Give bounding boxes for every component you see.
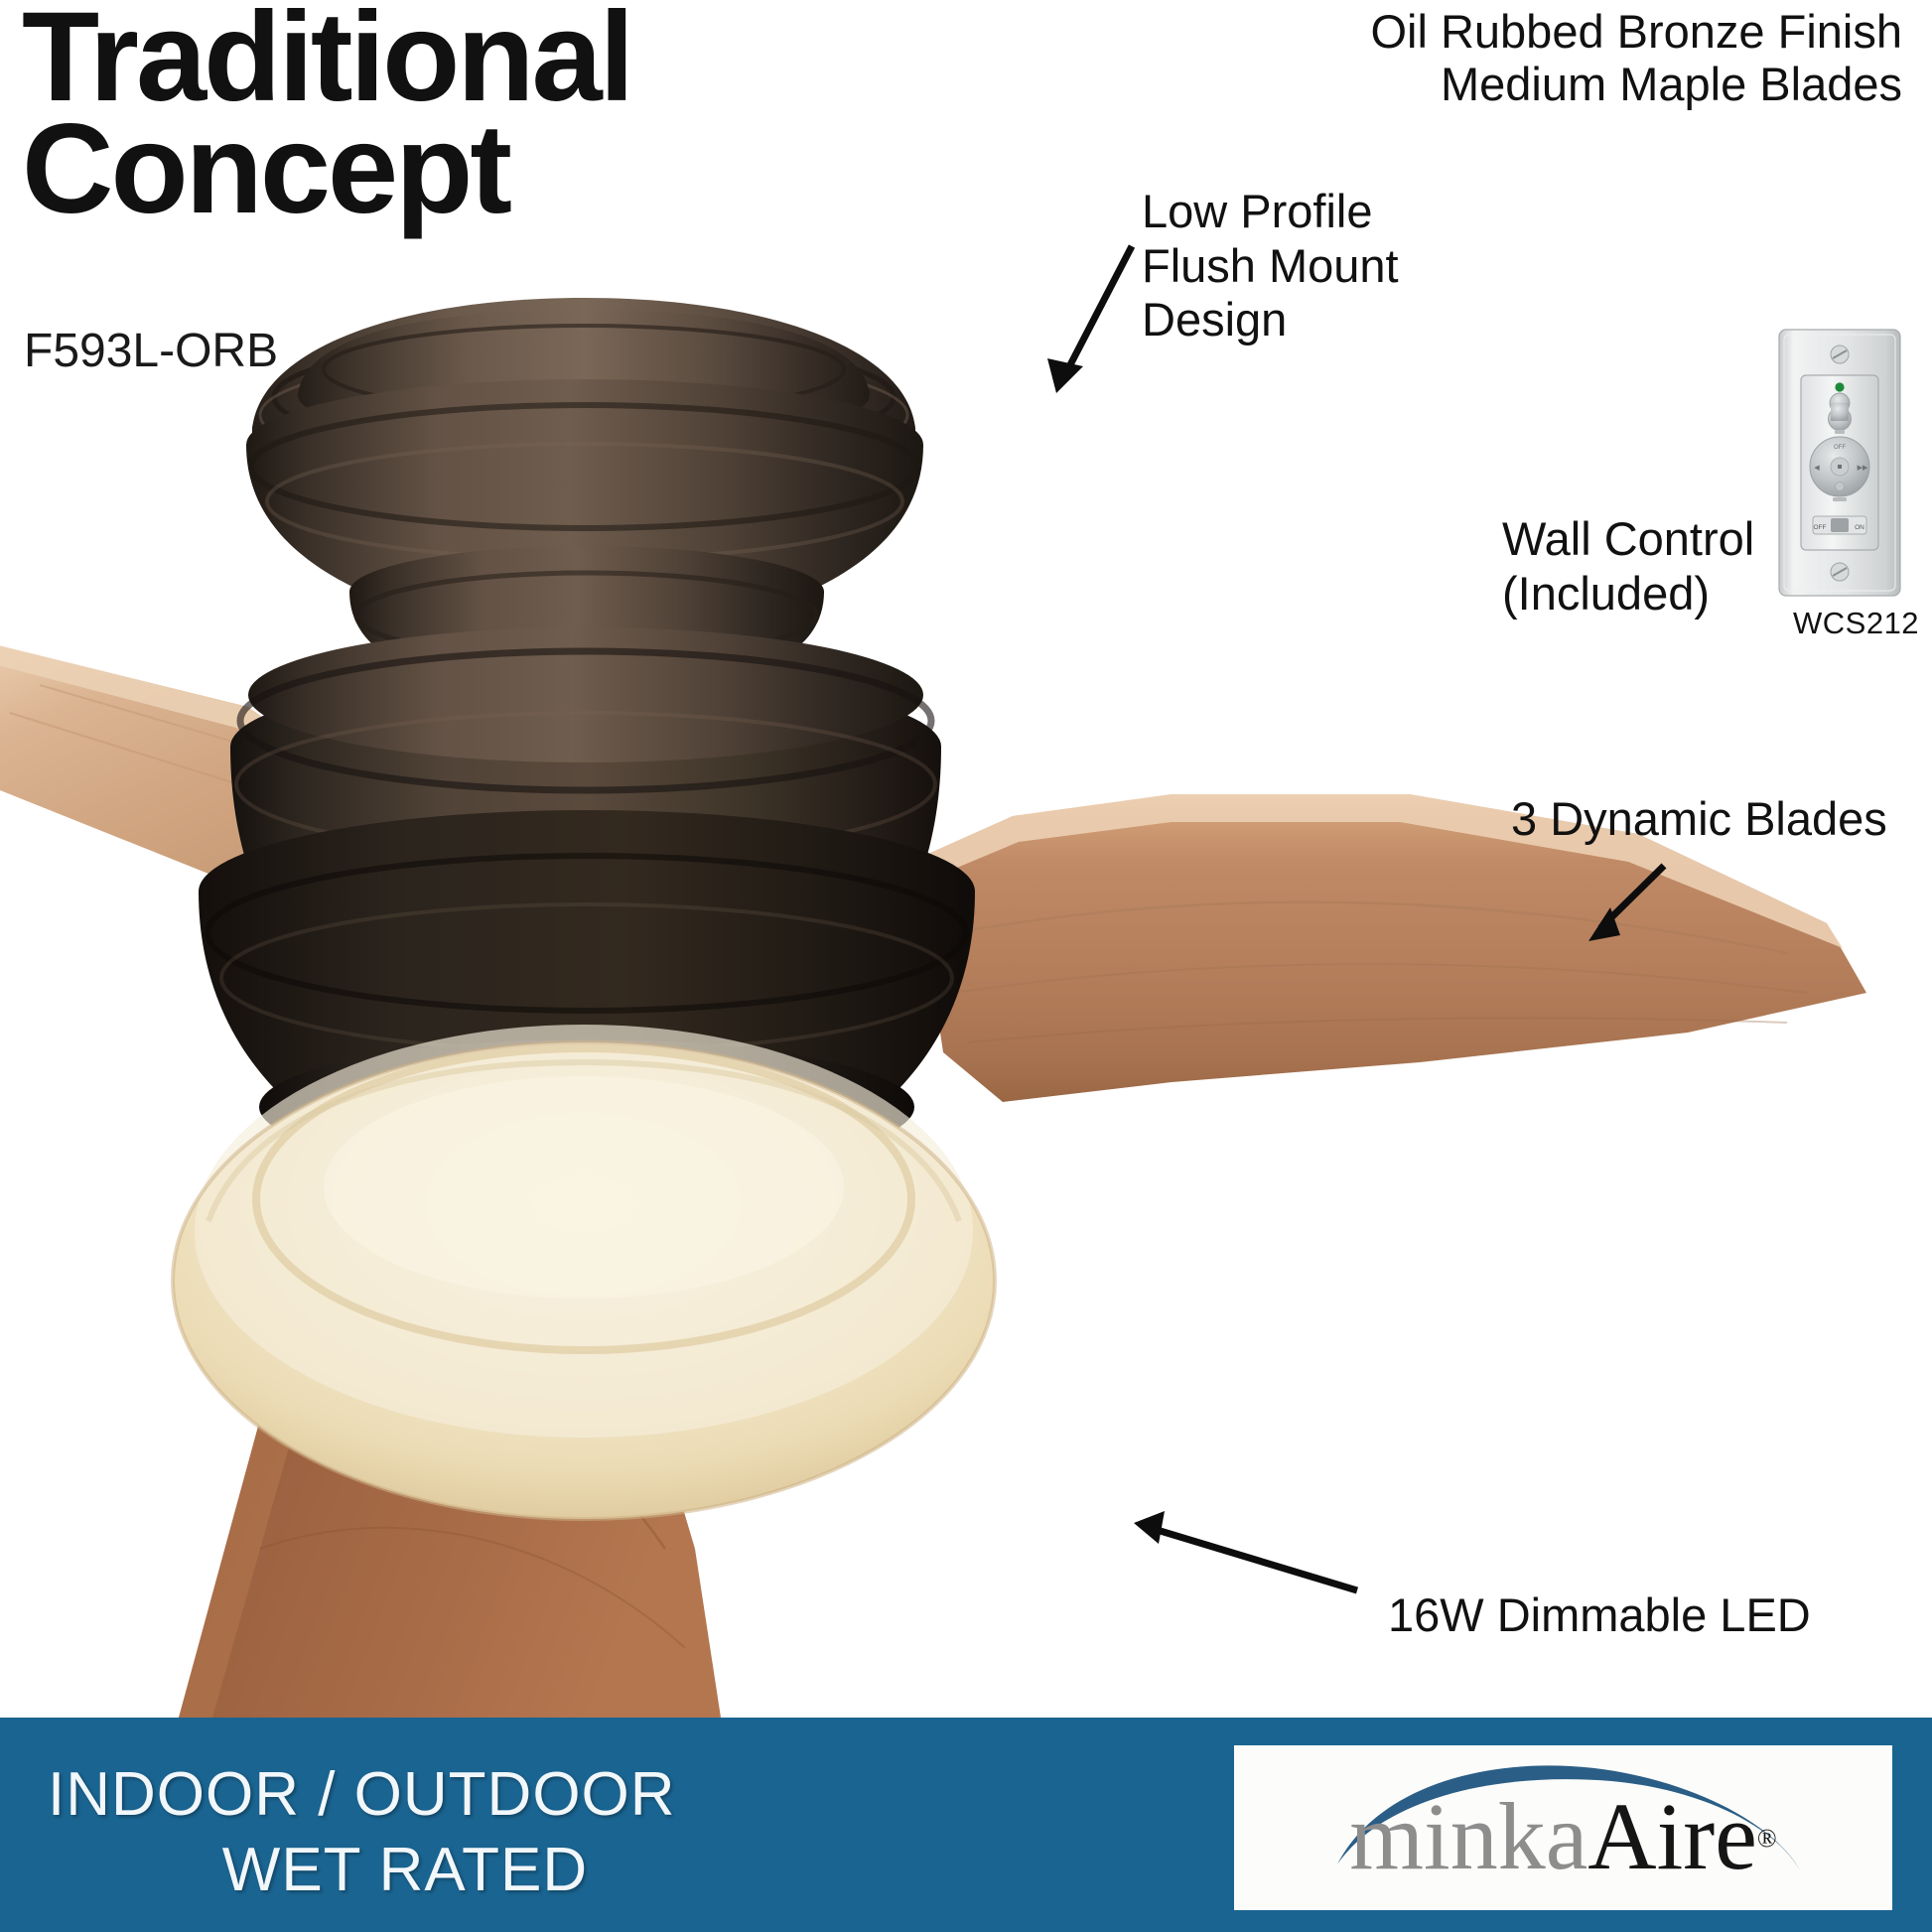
- callout-dimmable-led: 16W Dimmable LED: [1388, 1588, 1811, 1643]
- logo-wordmark: minkaAire®: [1266, 1789, 1862, 1884]
- led-light-lens: [173, 1025, 995, 1519]
- callout-low-profile: Low Profile Flush Mount Design: [1142, 185, 1399, 347]
- title-line-1: Traditional: [22, 2, 631, 114]
- model-number: F593L-ORB: [24, 324, 278, 378]
- fan-neck: [349, 546, 824, 681]
- callout-dynamic-blades-label: 3 Dynamic Blades: [1511, 792, 1887, 847]
- callout-wall-control-line-1: Wall Control: [1502, 512, 1754, 567]
- arrow-dimmable-led: [1134, 1511, 1357, 1590]
- arrow-dynamic-blades: [1588, 866, 1664, 941]
- svg-text:▶▶: ▶▶: [1858, 465, 1868, 472]
- fan-blade-upper-left: [0, 643, 467, 898]
- fan-canopy-tier-2: [246, 379, 923, 606]
- title-line-2: Concept: [22, 114, 631, 226]
- brand-logo: minkaAire®: [1234, 1745, 1892, 1910]
- wall-control-image: OFF ◀ ▶▶ OFF ON: [1777, 328, 1902, 598]
- fan-blade-lower-left: [179, 1152, 721, 1718]
- registered-trademark-icon: ®: [1757, 1824, 1777, 1853]
- fan-blade-hub: [199, 810, 975, 1191]
- callout-low-profile-line-3: Design: [1142, 293, 1399, 347]
- callout-low-profile-line-2: Flush Mount: [1142, 239, 1399, 294]
- callout-wall-control: Wall Control (Included): [1502, 512, 1754, 621]
- arrow-low-profile: [1047, 246, 1132, 393]
- svg-text:◀: ◀: [1814, 465, 1820, 472]
- product-title: Traditional Concept: [22, 2, 631, 225]
- callout-wall-control-line-2: (Included): [1502, 567, 1754, 621]
- logo-part-minka: minka: [1349, 1783, 1587, 1889]
- callout-low-profile-line-1: Low Profile: [1142, 185, 1399, 239]
- banner-line-2: WET RATED: [48, 1833, 921, 1908]
- finish-line-2: Medium Maple Blades: [1370, 59, 1902, 111]
- product-infographic: Traditional Concept F593L-ORB Oil Rubbed…: [0, 0, 1932, 1932]
- finish-description: Oil Rubbed Bronze Finish Medium Maple Bl…: [1370, 6, 1902, 110]
- callout-dynamic-blades: 3 Dynamic Blades: [1511, 792, 1887, 847]
- banner-line-1: INDOOR / OUTDOOR: [48, 1757, 921, 1833]
- fan-motor-housing: [230, 627, 941, 1060]
- fan-canopy-top: [252, 298, 915, 494]
- svg-text:ON: ON: [1855, 524, 1864, 531]
- svg-text:OFF: OFF: [1834, 445, 1846, 451]
- wet-rated-text: INDOOR / OUTDOOR WET RATED: [48, 1757, 921, 1907]
- svg-text:OFF: OFF: [1814, 524, 1827, 531]
- callout-dimmable-led-label: 16W Dimmable LED: [1388, 1588, 1811, 1643]
- finish-line-1: Oil Rubbed Bronze Finish: [1370, 6, 1902, 59]
- power-slide-switch: OFF ON: [1813, 516, 1866, 534]
- wall-control-model-label: WCS212: [1793, 606, 1919, 641]
- logo-part-aire: Aire: [1587, 1783, 1757, 1889]
